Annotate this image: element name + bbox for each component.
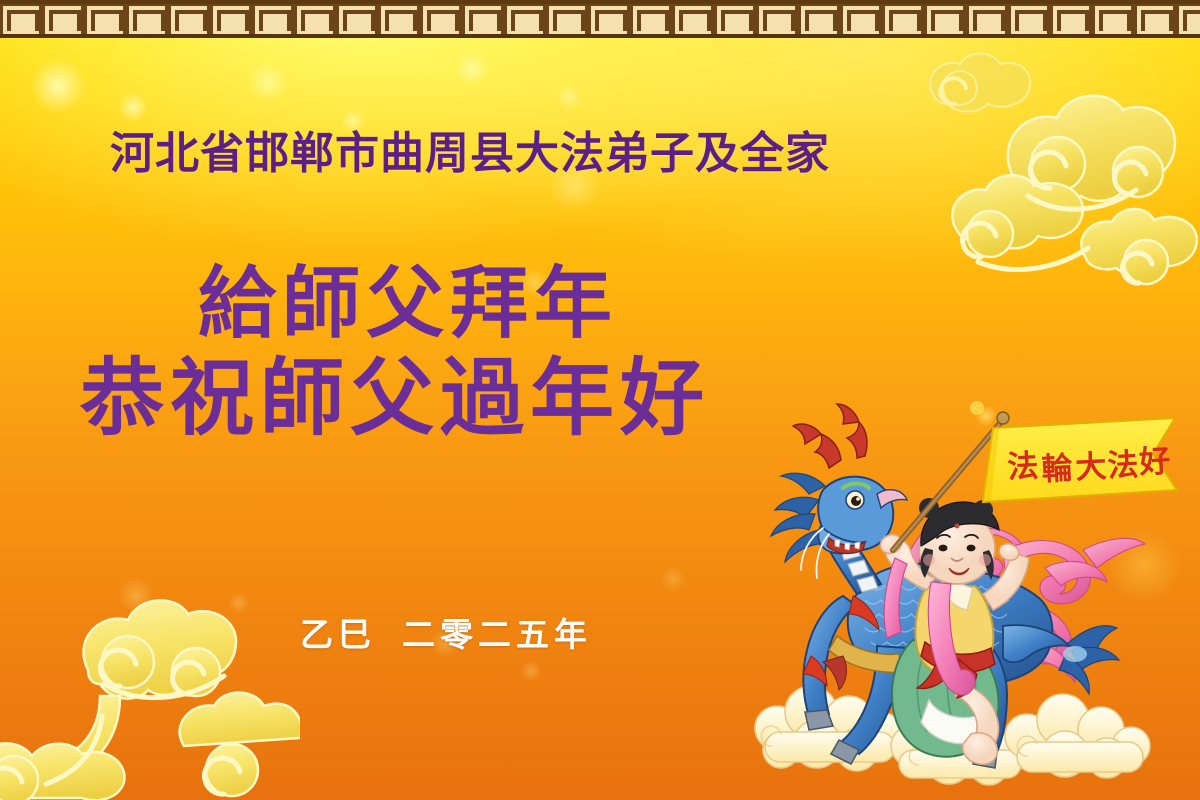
banner-flag: 法 輪 大 法 好 (983, 418, 1177, 502)
bokeh-dot (520, 660, 542, 682)
svg-text:法: 法 (1006, 448, 1039, 486)
svg-text:好: 好 (1137, 443, 1171, 481)
ganzhi-year: 乙巳 (300, 615, 376, 654)
svg-text:大: 大 (1074, 449, 1107, 487)
gold-dot (970, 401, 984, 415)
date-stamp: 乙巳二零二五年 (300, 608, 592, 656)
bokeh-dot (660, 566, 686, 592)
greeting-card: 河北省邯郸市曲周县大法弟子及全家 給師父拜年 恭祝師父過年好 乙巳二零二五年 (0, 0, 1200, 800)
cloud-bottom-left-icon (0, 584, 300, 800)
top-meander-border (0, 0, 1200, 38)
greeting-line-2: 恭祝師父過年好 (0, 350, 790, 446)
greeting-line-1: 給師父拜年 (0, 258, 790, 350)
child-riding-dragon-illustration: 法 輪 大 法 好 (745, 398, 1185, 800)
svg-text:法: 法 (1106, 447, 1139, 485)
page-title: 河北省邯郸市曲周县大法弟子及全家 (110, 132, 830, 176)
bokeh-dot (248, 62, 288, 102)
cloud-top-right-small-icon (920, 36, 1050, 146)
bokeh-dot (30, 58, 86, 114)
svg-text:輪: 輪 (1041, 450, 1074, 488)
bokeh-dot (455, 52, 489, 86)
bokeh-dot (118, 92, 148, 122)
bokeh-dot (556, 84, 582, 110)
calendar-year: 二零二五年 (402, 615, 592, 654)
greeting-block: 給師父拜年 恭祝師父過年好 (0, 258, 790, 446)
meander-pattern-icon (0, 0, 1200, 38)
